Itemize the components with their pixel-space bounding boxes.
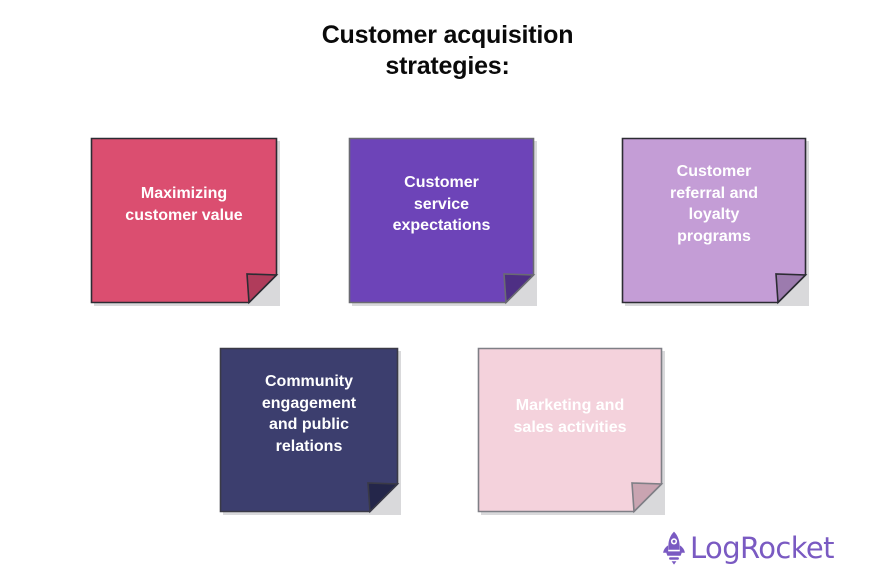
sticky-note-sheet xyxy=(91,138,277,303)
page-title: Customer acquisition strategies: xyxy=(0,20,895,82)
logrocket-logo: LogRocket xyxy=(660,531,834,565)
sticky-note-marketing-and-sales-activities[interactable]: Marketing and sales activities xyxy=(478,348,662,512)
sticky-note-sheet xyxy=(478,348,662,512)
sticky-note-customer-service-expectations[interactable]: Customer service expectations xyxy=(349,138,534,303)
page-title-line-1: Customer acquisition xyxy=(0,20,895,51)
sticky-note-community-engagement-and-public-relations[interactable]: Community engagement and public relation… xyxy=(220,348,398,512)
sticky-note-customer-referral-and-loyalty-programs[interactable]: Customer referral and loyalty programs xyxy=(622,138,806,303)
diagram-canvas: Customer acquisition strategies: Maximiz… xyxy=(0,0,895,582)
rocket-icon xyxy=(660,531,688,565)
page-title-line-2: strategies: xyxy=(0,51,895,82)
logrocket-wordmark: LogRocket xyxy=(690,534,834,563)
sticky-note-sheet xyxy=(220,348,398,512)
sticky-note-maximizing-customer-value[interactable]: Maximizing customer value xyxy=(91,138,277,303)
sticky-note-sheet xyxy=(349,138,534,303)
sticky-note-sheet xyxy=(622,138,806,303)
